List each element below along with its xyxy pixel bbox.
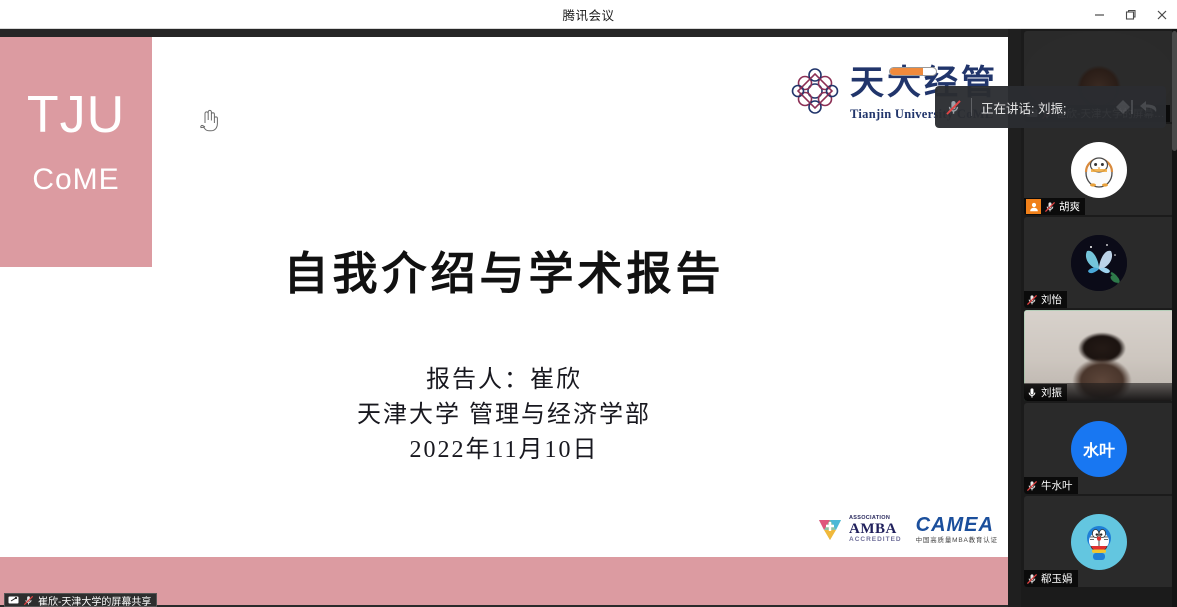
speaking-status-toast[interactable]: 正在讲话: 刘振;: [935, 86, 1166, 128]
tile-name: 胡爽: [1059, 199, 1080, 214]
tile-name: 刘振: [1041, 385, 1062, 400]
subtitle-presenter: 报告人：崔欣: [0, 363, 1008, 398]
camea-sub-text: 中国高质量MBA教育认证: [916, 538, 998, 545]
maximize-button[interactable]: [1115, 0, 1146, 29]
meeting-body: TJU CoME: [0, 29, 1177, 607]
camea-main-text: CAMEA: [916, 515, 998, 535]
close-button[interactable]: [1146, 0, 1177, 29]
avatar-initials: 水叶: [1083, 437, 1115, 461]
share-progress-pill: [889, 67, 937, 76]
camea-logo: CAMEA 中国高质量MBA教育认证: [916, 515, 998, 545]
filmstrip-scrollbar-thumb[interactable]: [1172, 31, 1177, 151]
butterfly-avatar-icon: [1071, 235, 1127, 291]
mic-on-icon: [1026, 387, 1038, 399]
tile-name: 郗玉娟: [1041, 571, 1073, 586]
window-title: 腾讯会议: [562, 5, 614, 24]
share-progress-fill: [890, 68, 923, 75]
share-stage-topbar: [0, 29, 1008, 37]
doraemon-avatar-icon: [1077, 520, 1121, 564]
amba-diamond-icon: [815, 517, 845, 543]
tencent-meeting-window: 腾讯会议 T: [0, 0, 1177, 607]
tile-label: 牛水叶: [1024, 477, 1078, 494]
mic-muted-icon: [945, 99, 962, 116]
tju-emblem-icon: [790, 65, 840, 117]
brand-come-text: CoME: [0, 163, 152, 197]
amba-accredited-text: ACCREDITED: [849, 537, 902, 544]
avatar: [1071, 142, 1127, 198]
participant-tile[interactable]: 胡爽: [1024, 124, 1174, 215]
mic-muted-icon: [1026, 480, 1038, 492]
share-bottom-label: 崔欣-天津大学的屏幕共享: [4, 593, 157, 607]
participant-tile[interactable]: 郗玉娟: [1024, 496, 1174, 587]
accreditation-logos: ASSOCIATION AMBA ACCREDITED CAMEA 中国高质量M…: [815, 515, 998, 545]
avatar: [1071, 514, 1127, 570]
tile-label: 刘振: [1024, 384, 1067, 401]
mic-muted-icon: [1044, 201, 1056, 213]
tile-label: 刘怡: [1024, 291, 1067, 308]
return-arrow-icon[interactable]: [1138, 96, 1160, 118]
tile-label: 胡爽: [1024, 198, 1085, 215]
subtitle-affiliation: 天津大学 管理与经济学部: [0, 398, 1008, 433]
tju-come-brand-block: TJU CoME: [0, 37, 152, 267]
avatar: [1071, 235, 1127, 291]
shared-screen-stage[interactable]: TJU CoME: [0, 29, 1008, 607]
hand-cursor-icon: [198, 107, 220, 133]
participant-tile[interactable]: 刘怡: [1024, 217, 1174, 308]
filmstrip-scrollbar[interactable]: [1172, 29, 1177, 607]
tile-name: 刘怡: [1041, 292, 1062, 307]
participant-tile[interactable]: 水叶 牛水叶: [1024, 403, 1174, 494]
amba-text-block: ASSOCIATION AMBA ACCREDITED: [849, 516, 902, 543]
chevron-collapse-icon[interactable]: [1111, 96, 1136, 118]
slide-title: 自我介绍与学术报告: [0, 237, 1008, 302]
participant-tile-active[interactable]: 刘振: [1024, 310, 1174, 401]
host-person-icon: [1029, 202, 1039, 212]
tile-label: 郗玉娟: [1024, 570, 1078, 587]
penguin-avatar-icon: [1077, 148, 1121, 192]
host-badge: [1026, 199, 1041, 214]
slide-subtitle: 报告人：崔欣 天津大学 管理与经济学部 2022年11月10日: [0, 363, 1008, 468]
tile-name: 牛水叶: [1041, 478, 1073, 493]
window-controls: [1084, 0, 1177, 29]
toast-actions: [1111, 96, 1160, 118]
brand-tju-text: TJU: [0, 89, 152, 141]
minimize-button[interactable]: [1084, 0, 1115, 29]
amba-logo: ASSOCIATION AMBA ACCREDITED: [815, 516, 902, 543]
mic-muted-icon: [1026, 294, 1038, 306]
mic-muted-icon: [1026, 573, 1038, 585]
avatar: 水叶: [1071, 421, 1127, 477]
title-bar: 腾讯会议: [0, 0, 1177, 29]
mic-muted-icon: [23, 595, 34, 606]
amba-main-text: AMBA: [849, 522, 902, 537]
screen-share-icon: [8, 596, 19, 605]
share-bottom-label-text: 崔欣-天津大学的屏幕共享: [38, 593, 151, 607]
presentation-slide: TJU CoME: [0, 37, 1008, 605]
subtitle-date: 2022年11月10日: [0, 433, 1008, 468]
toast-divider: [971, 98, 972, 116]
speaking-status-text: 正在讲话: 刘振;: [981, 98, 1066, 117]
